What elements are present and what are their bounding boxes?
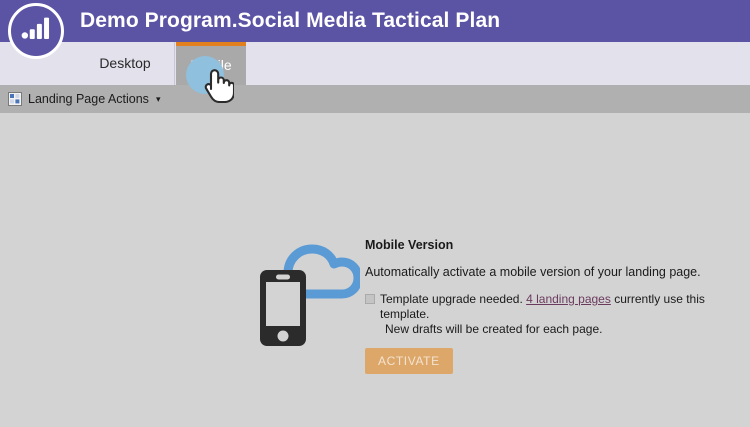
landing-page-actions-button[interactable]: Landing Page Actions ▾: [8, 85, 160, 113]
app-header: Demo Program.Social Media Tactical Plan: [0, 0, 750, 42]
note-prefix: Template upgrade needed.: [380, 292, 526, 306]
page-layout-icon: [8, 92, 22, 106]
mobile-version-heading: Mobile Version: [365, 238, 710, 252]
note-second-line: New drafts will be created for each page…: [380, 322, 710, 337]
mobile-version-copy: Mobile Version Automatically activate a …: [365, 238, 710, 374]
caret-down-icon: ▾: [156, 95, 161, 104]
landing-pages-link[interactable]: 4 landing pages: [526, 292, 611, 306]
page-title: Demo Program.Social Media Tactical Plan: [80, 0, 500, 42]
application-window: Demo Program.Social Media Tactical Plan …: [0, 0, 750, 427]
tab-mobile[interactable]: Mobile: [176, 42, 246, 85]
bar-chart-circle-icon: [8, 3, 64, 59]
mobile-version-description: Automatically activate a mobile version …: [365, 265, 710, 279]
content-area: Mobile Version Automatically activate a …: [0, 113, 750, 427]
bar-chart-glyph: [11, 6, 61, 56]
tab-bar: Desktop Mobile: [0, 42, 750, 85]
landing-page-actions-label: Landing Page Actions: [28, 92, 149, 106]
template-upgrade-checkbox[interactable]: [365, 294, 375, 304]
activate-button[interactable]: ACTIVATE: [365, 348, 453, 374]
toolbar: Landing Page Actions ▾: [0, 85, 750, 113]
tab-desktop[interactable]: Desktop: [76, 42, 175, 85]
mobile-cloud-illustration: [252, 238, 360, 350]
template-upgrade-note: Template upgrade needed. 4 landing pages…: [365, 292, 710, 337]
